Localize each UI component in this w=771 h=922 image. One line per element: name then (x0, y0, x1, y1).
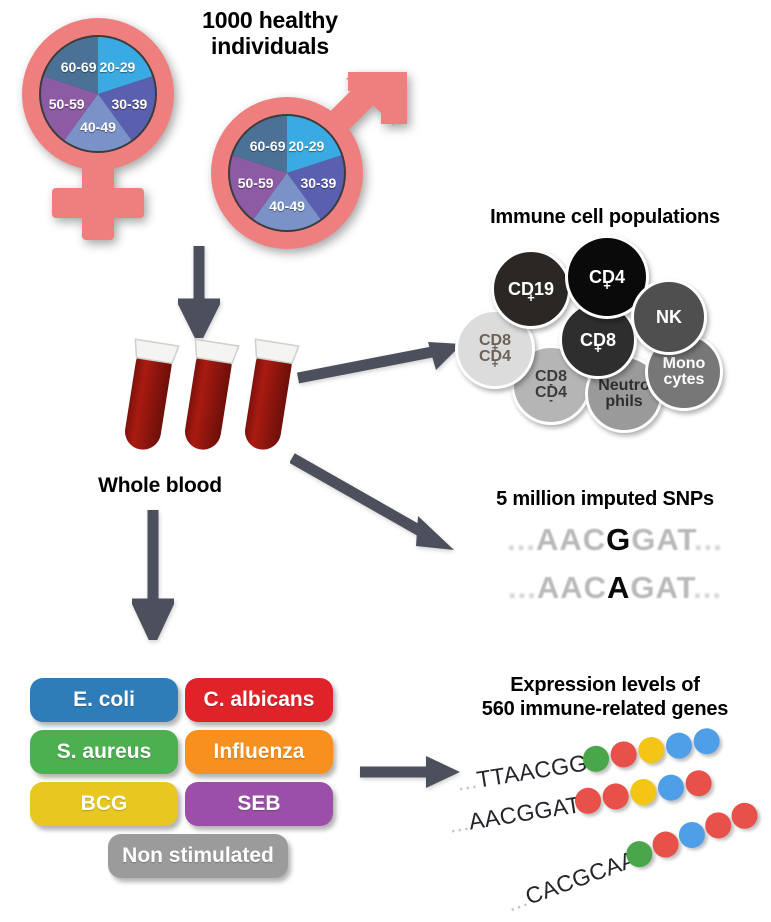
arrow-blood-to-stimuli (132, 510, 174, 640)
whole-blood-label: Whole blood (60, 474, 260, 498)
immune-cell-label-line: Neutro (598, 378, 650, 394)
rna-sequence-text: ...TTAACGG (455, 749, 589, 796)
blood-tubes (108, 330, 318, 470)
snp-suffix-bases: GAT (630, 570, 693, 605)
immune-cell-label-line: CD19+ (508, 280, 554, 298)
immune-cell-label: CD4+ (589, 268, 625, 286)
rna-bead (628, 777, 658, 807)
stimuli-group: E. coliC. albicansS. aureusInfluenzaBCGS… (30, 678, 350, 908)
rna-bead (636, 735, 666, 765)
gene-title-line-2: 560 immune-related genes (440, 698, 770, 722)
rna-leading-ellipsis: ... (447, 809, 471, 838)
immune-cell-population-group: CD19+CD4+NKCD8+CD4+CD8+MonocytesCD8-CD4-… (455, 235, 771, 420)
female-age-pie-chart: 20-2930-3940-4950-5960-69 (41, 37, 155, 151)
blood-tube-icon (108, 330, 318, 470)
immune-cell-label: Monocytes (663, 356, 706, 388)
female-gender-symbol: 20-2930-3940-4950-5960-69 (8, 12, 188, 252)
arrow-blood-to-snp (290, 450, 472, 560)
rna-sequence-text: ...CACGCAA (503, 846, 640, 918)
immune-cell-label: NK (656, 308, 682, 326)
immune-cell-label-line: CD4+ (589, 268, 625, 286)
immune-cell-label-line: CD8- (535, 369, 567, 385)
immune-section-title: Immune cell populations (440, 206, 770, 228)
stimulus-ecoli[interactable]: E. coli (30, 678, 178, 722)
age-pie-svg (230, 116, 344, 230)
immune-cell-label-line: CD8+ (580, 331, 616, 349)
male-gender-symbol: 20-2930-3940-4950-5960-69 (198, 72, 418, 262)
stimulus-label: C. albicans (204, 688, 315, 712)
stimulus-nonstimulated[interactable]: Non stimulated (108, 834, 288, 878)
snp-trailing-ellipsis: ... (694, 522, 723, 557)
immune-cell-label-line: phils (598, 394, 650, 410)
immune-cell-label: CD19+ (508, 280, 554, 298)
stimulus-label: SEB (237, 792, 280, 816)
snp-sequence-group: ...AACGGAT......AACAGAT... (470, 522, 760, 614)
immune-cell-nk[interactable]: NK (631, 279, 707, 355)
rna-bead (702, 809, 735, 842)
immune-cell-cd19[interactable]: CD19+ (491, 249, 571, 329)
rna-bead (684, 768, 714, 798)
snp-prefix-bases: AAC (537, 570, 607, 605)
male-age-pie-chart: 20-2930-3940-4950-5960-69 (230, 116, 344, 230)
snp-prefix-bases: AAC (536, 522, 606, 557)
snp-suffix-bases: GAT (631, 522, 694, 557)
snp-leading-ellipsis: ... (508, 570, 537, 605)
stimulus-label: Influenza (213, 740, 304, 764)
rna-strand-group: ...TTAACGG...AACGGAT...CACGCAA (455, 740, 771, 918)
stimulus-bcg[interactable]: BCG (30, 782, 178, 826)
age-pie-svg (41, 37, 155, 151)
rna-leading-ellipsis: ... (455, 767, 479, 796)
snp-section-title: 5 million imputed SNPs (450, 488, 760, 510)
immune-cell-label-line: NK (656, 308, 682, 326)
stimulus-influenza[interactable]: Influenza (185, 730, 333, 774)
stimulus-seb[interactable]: SEB (185, 782, 333, 826)
rna-bead (728, 799, 761, 832)
rna-leading-ellipsis: ... (503, 885, 531, 916)
gene-title-line-1: Expression levels of (440, 674, 770, 698)
snp-sequence-row: ...AACAGAT... (470, 570, 760, 606)
immune-cell-label-line: cytes (663, 372, 706, 388)
arrow-blood-to-immune (294, 330, 470, 386)
immune-cell-label-line: Mono (663, 356, 706, 372)
arrow-stimuli-to-genes (358, 752, 468, 792)
rna-bead (675, 818, 708, 851)
rna-bead (692, 726, 722, 756)
snp-variant-base: A (607, 570, 630, 605)
snp-variant-base: G (606, 522, 631, 557)
immune-cell-label-line: CD4+ (479, 349, 511, 365)
immune-cell-label: CD8-CD4- (535, 369, 567, 401)
immune-cell-label-line: CD4- (535, 385, 567, 401)
rna-sequence-text: ...AACGGAT (447, 791, 583, 838)
snp-sequence-row: ...AACGGAT... (470, 522, 760, 558)
stimulus-calbicans[interactable]: C. albicans (185, 678, 333, 722)
rna-bead (664, 731, 694, 761)
stimulus-label: BCG (81, 792, 128, 816)
rna-bead (656, 773, 686, 803)
immune-cell-label: Neutrophils (598, 378, 650, 410)
rna-bead (601, 782, 631, 812)
stimulus-label: S. aureus (57, 740, 152, 764)
immune-cell-label: CD8+ (580, 331, 616, 349)
snp-trailing-ellipsis: ... (693, 570, 722, 605)
stimulus-saureus[interactable]: S. aureus (30, 730, 178, 774)
stimulus-label: E. coli (73, 688, 135, 712)
gene-section-title: Expression levels of 560 immune-related … (440, 674, 770, 721)
immune-cell-label-line: CD8+ (479, 333, 511, 349)
snp-leading-ellipsis: ... (507, 522, 536, 557)
rna-bead (609, 740, 639, 770)
stimulus-label: Non stimulated (122, 844, 274, 868)
rna-bead (649, 828, 682, 861)
arrow-cohort-to-blood (178, 246, 220, 338)
immune-cell-label: CD8+CD4+ (479, 333, 511, 365)
